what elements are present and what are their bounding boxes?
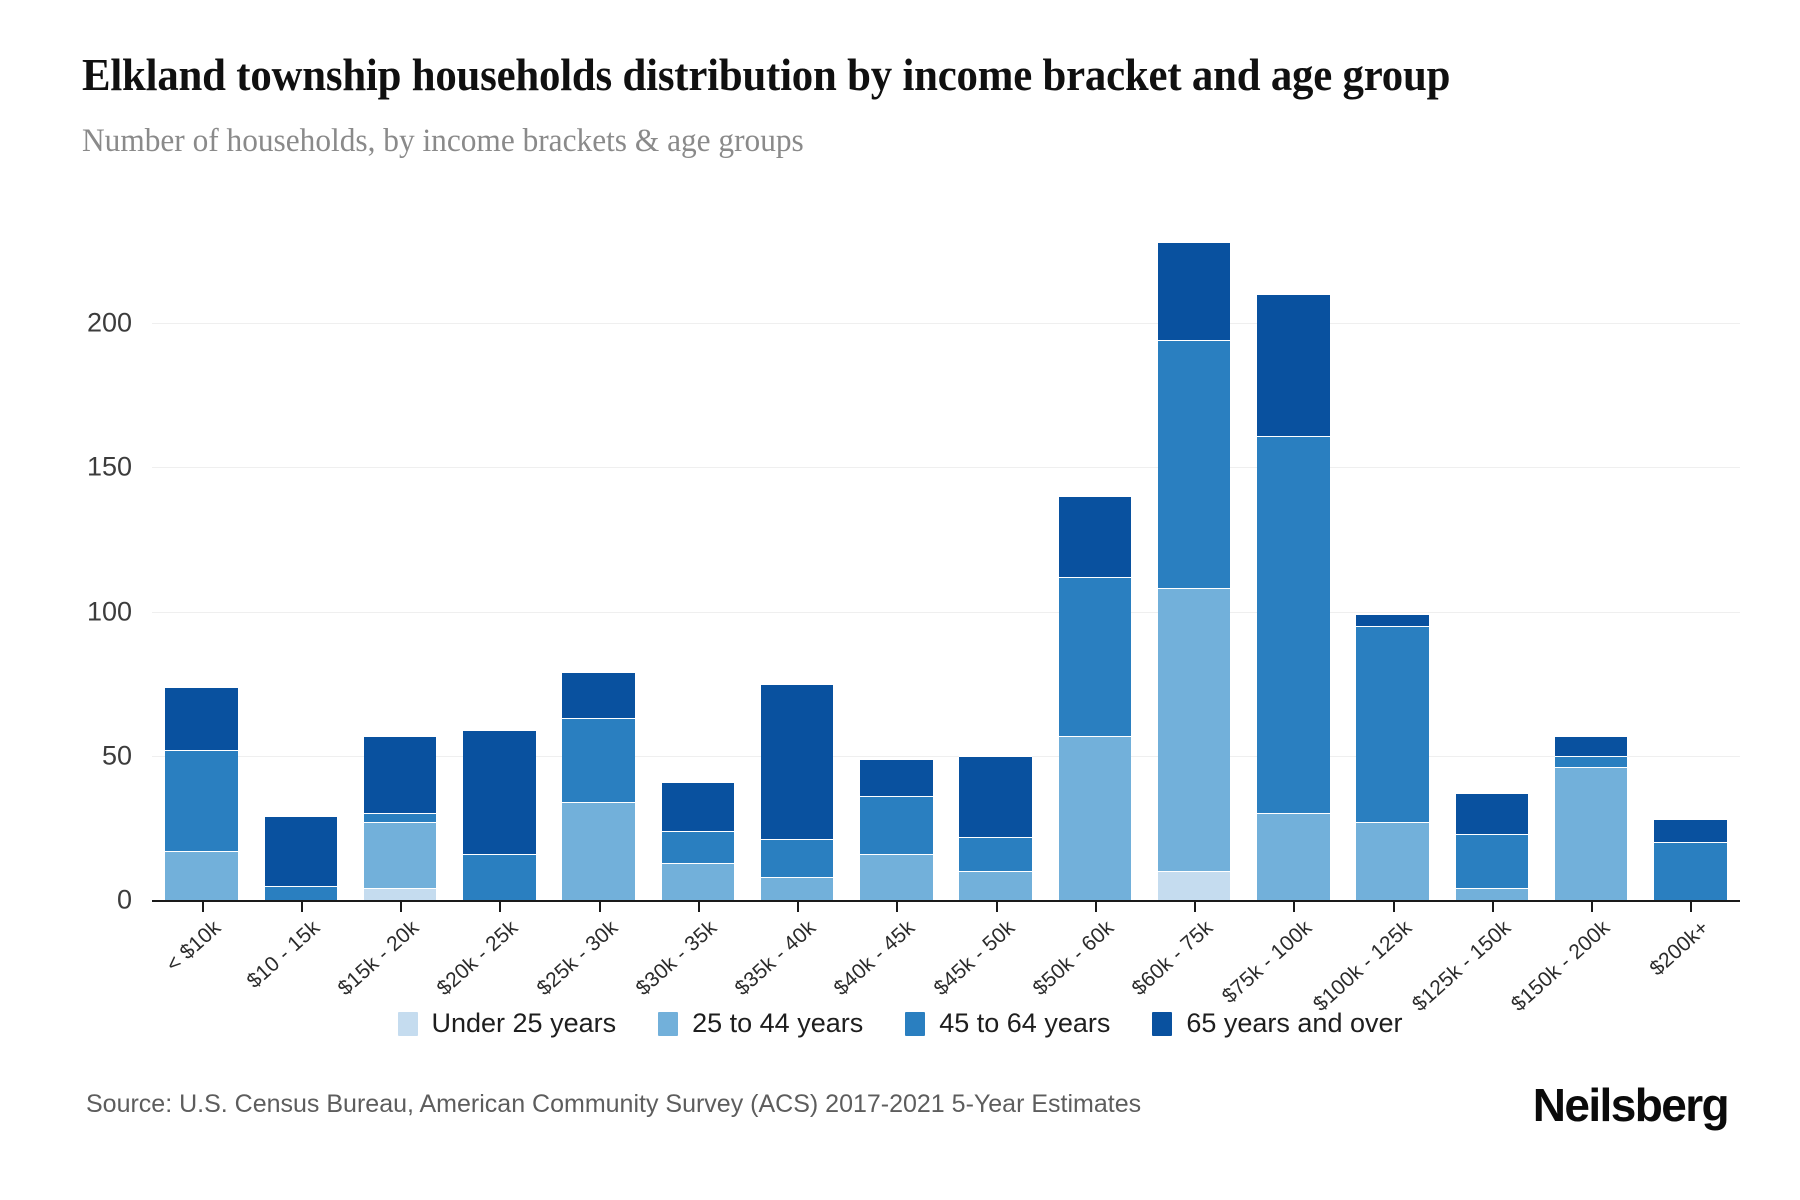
bar-segment[interactable] — [562, 718, 634, 802]
bar-segment[interactable] — [364, 888, 436, 900]
bar-group[interactable] — [463, 730, 535, 900]
x-axis-tick-mark — [1393, 900, 1395, 912]
source-note: Source: U.S. Census Bureau, American Com… — [86, 1090, 1141, 1119]
x-axis-tick-label: $60k - 75k — [1128, 916, 1218, 1001]
brand-logo: Neilsberg — [1533, 1078, 1728, 1132]
bar-segment[interactable] — [1456, 834, 1528, 889]
x-axis-tick-label: $30k - 35k — [632, 916, 722, 1001]
bar-segment[interactable] — [1654, 842, 1726, 900]
bar-segment[interactable] — [463, 730, 535, 854]
bar-segment[interactable] — [265, 886, 337, 900]
x-axis-tick-mark — [698, 900, 700, 912]
x-axis-tick-mark — [797, 900, 799, 912]
bar-segment[interactable] — [364, 736, 436, 814]
legend-item[interactable]: 65 years and over — [1152, 1008, 1402, 1039]
bar-segment[interactable] — [1456, 888, 1528, 900]
bar-segment[interactable] — [761, 877, 833, 900]
legend-label: 45 to 64 years — [939, 1008, 1110, 1039]
legend-swatch-icon — [398, 1012, 418, 1036]
x-axis-tick-label: $40k - 45k — [830, 916, 920, 1001]
bar-segment[interactable] — [761, 684, 833, 840]
x-axis-tick-label: $100k - 125k — [1309, 916, 1417, 1017]
x-axis-tick-label: $10 - 15k — [242, 916, 324, 994]
bar-segment[interactable] — [562, 802, 634, 900]
x-axis-tick-label: $200k+ — [1646, 916, 1715, 981]
x-axis-tick-mark — [1194, 900, 1196, 912]
bar-segment[interactable] — [165, 687, 237, 750]
x-axis-tick-mark — [896, 900, 898, 912]
bar-segment[interactable] — [1257, 294, 1329, 435]
bar-segment[interactable] — [1257, 813, 1329, 900]
bar-segment[interactable] — [860, 796, 932, 854]
bar-segment[interactable] — [662, 863, 734, 901]
x-axis-tick-mark — [1591, 900, 1593, 912]
x-axis-tick-label: $150k - 200k — [1507, 916, 1615, 1017]
legend-swatch-icon — [1152, 1012, 1172, 1036]
x-axis-tick-mark — [301, 900, 303, 912]
bar-group[interactable] — [1456, 793, 1528, 900]
bar-group[interactable] — [265, 816, 337, 900]
bar-segment[interactable] — [1456, 793, 1528, 833]
bar-group[interactable] — [364, 736, 436, 900]
bar-group[interactable] — [1356, 614, 1428, 900]
bar-group[interactable] — [165, 687, 237, 900]
bar-segment[interactable] — [860, 854, 932, 900]
bar-segment[interactable] — [959, 756, 1031, 837]
x-axis-tick-mark — [1492, 900, 1494, 912]
x-axis-tick-mark — [1095, 900, 1097, 912]
y-axis-tick-label: 0 — [12, 885, 132, 916]
bar-segment[interactable] — [1158, 340, 1230, 588]
bar-group[interactable] — [959, 756, 1031, 900]
bar-segment[interactable] — [1059, 577, 1131, 736]
bar-segment[interactable] — [364, 813, 436, 822]
x-axis-tick-label: $50k - 60k — [1029, 916, 1119, 1001]
y-axis-tick-label: 100 — [12, 596, 132, 627]
x-axis-tick-label: $125k - 150k — [1408, 916, 1516, 1017]
y-axis-tick-label: 150 — [12, 452, 132, 483]
bar-segment[interactable] — [1257, 436, 1329, 814]
legend-label: Under 25 years — [432, 1008, 617, 1039]
bar-group[interactable] — [1059, 496, 1131, 900]
bar-group[interactable] — [1654, 819, 1726, 900]
x-axis-tick-mark — [499, 900, 501, 912]
bar-segment[interactable] — [463, 854, 535, 900]
legend-item[interactable]: 45 to 64 years — [905, 1008, 1110, 1039]
x-axis-tick-label: $75k - 100k — [1218, 916, 1317, 1009]
x-axis-tick-mark — [202, 900, 204, 912]
legend-swatch-icon — [905, 1012, 925, 1036]
x-axis-tick-mark — [599, 900, 601, 912]
x-axis-tick-mark — [1293, 900, 1295, 912]
bar-segment[interactable] — [1356, 822, 1428, 900]
bar-segment[interactable] — [959, 837, 1031, 872]
bar-segment[interactable] — [1555, 736, 1627, 756]
bar-segment[interactable] — [1654, 819, 1726, 842]
bar-segment[interactable] — [959, 871, 1031, 900]
bar-segment[interactable] — [562, 672, 634, 718]
x-axis-tick-label: $25k - 30k — [532, 916, 622, 1001]
x-axis-tick-label: $15k - 20k — [334, 916, 424, 1001]
bar-segment[interactable] — [1059, 496, 1131, 577]
legend-swatch-icon — [658, 1012, 678, 1036]
legend-item[interactable]: 25 to 44 years — [658, 1008, 863, 1039]
bar-segment[interactable] — [1059, 736, 1131, 900]
x-axis-line — [152, 900, 1740, 902]
bar-segment[interactable] — [1356, 614, 1428, 626]
x-axis-tick-label: $45k - 50k — [929, 916, 1019, 1001]
y-axis-tick-label: 50 — [12, 740, 132, 771]
bar-segment[interactable] — [860, 759, 932, 797]
bar-group[interactable] — [562, 672, 634, 900]
bar-group[interactable] — [1158, 242, 1230, 900]
x-axis-tick-mark — [1690, 900, 1692, 912]
bar-segment[interactable] — [165, 851, 237, 900]
bar-group[interactable] — [662, 782, 734, 900]
legend-label: 65 years and over — [1186, 1008, 1402, 1039]
bar-segment[interactable] — [1356, 626, 1428, 822]
bar-segment[interactable] — [1158, 242, 1230, 340]
x-axis-tick-label: $35k - 40k — [731, 916, 821, 1001]
bar-segment[interactable] — [1158, 871, 1230, 900]
bar-segment[interactable] — [1158, 588, 1230, 871]
bar-group[interactable] — [1555, 736, 1627, 900]
bar-segment[interactable] — [364, 822, 436, 888]
x-axis-tick-label: < $10k — [161, 916, 225, 977]
bar-group[interactable] — [761, 684, 833, 900]
bar-segment[interactable] — [265, 816, 337, 885]
bar-segment[interactable] — [662, 831, 734, 863]
chart-legend: Under 25 years25 to 44 years45 to 64 yea… — [0, 1008, 1800, 1039]
x-axis-tick-mark — [400, 900, 402, 912]
bar-segment[interactable] — [1555, 756, 1627, 768]
bar-segment[interactable] — [165, 750, 237, 851]
y-axis-tick-label: 200 — [12, 308, 132, 339]
x-axis-tick-mark — [996, 900, 998, 912]
x-axis-tick-label: $20k - 25k — [433, 916, 523, 1001]
bar-group[interactable] — [860, 759, 932, 900]
bar-segment[interactable] — [1555, 767, 1627, 900]
bar-group[interactable] — [1257, 294, 1329, 900]
bar-segment[interactable] — [761, 839, 833, 877]
bar-series-layer — [152, 240, 1740, 900]
legend-item[interactable]: Under 25 years — [398, 1008, 617, 1039]
legend-label: 25 to 44 years — [692, 1008, 863, 1039]
bar-segment[interactable] — [662, 782, 734, 831]
